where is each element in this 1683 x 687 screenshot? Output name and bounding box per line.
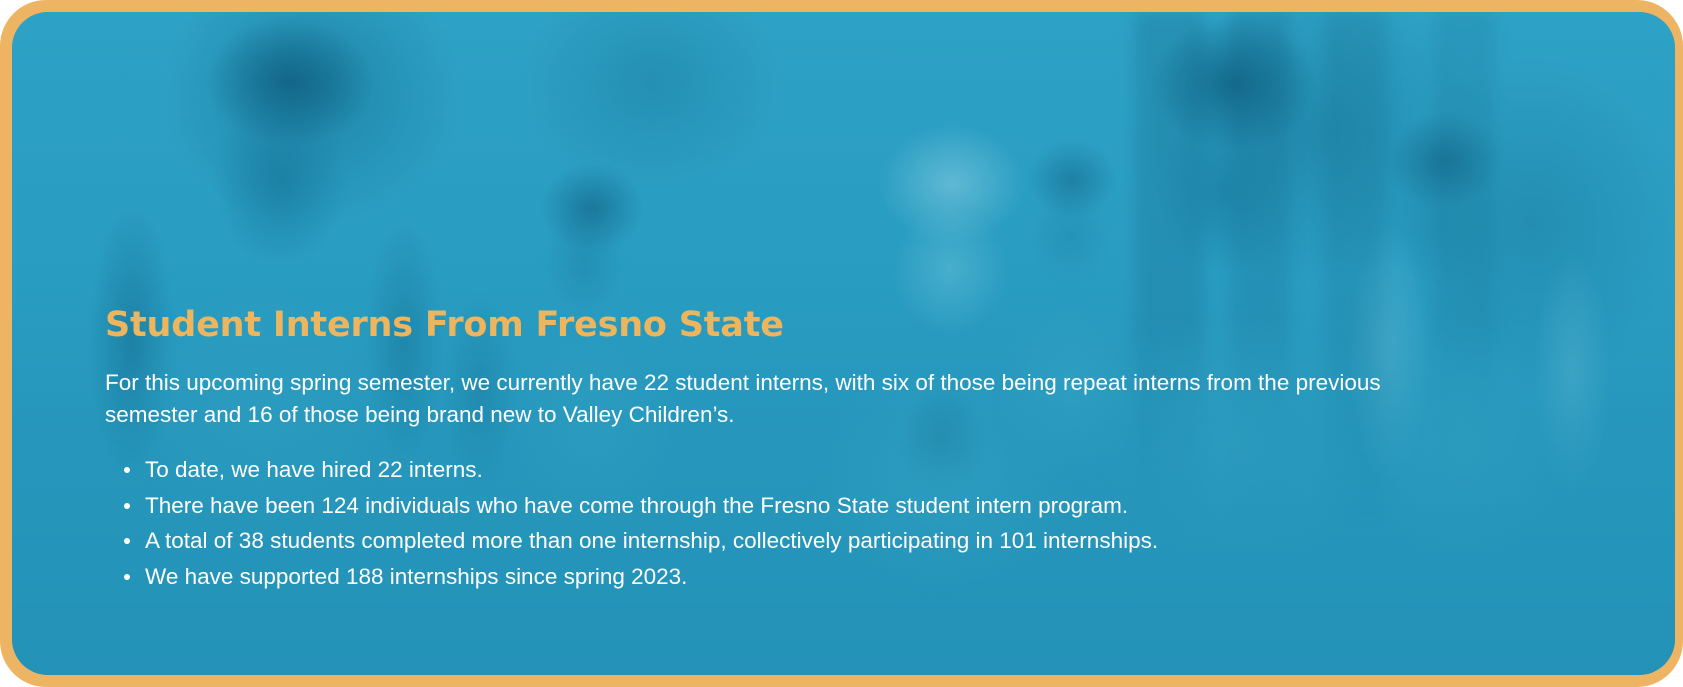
hero-intro-paragraph: For this upcoming spring semester, we cu… [105,367,1405,430]
hero-bullet-list: To date, we have hired 22 interns. There… [105,454,1415,592]
hero-card: Student Interns From Fresno State For th… [0,0,1683,687]
list-item: We have supported 188 internships since … [105,561,1415,593]
list-item: To date, we have hired 22 interns. [105,454,1415,486]
list-item: There have been 124 individuals who have… [105,490,1415,522]
hero-title: Student Interns From Fresno State [105,306,1415,345]
hero-photo-panel: Student Interns From Fresno State For th… [12,12,1675,675]
hero-copy-block: Student Interns From Fresno State For th… [105,306,1415,596]
list-item: A total of 38 students completed more th… [105,525,1415,557]
